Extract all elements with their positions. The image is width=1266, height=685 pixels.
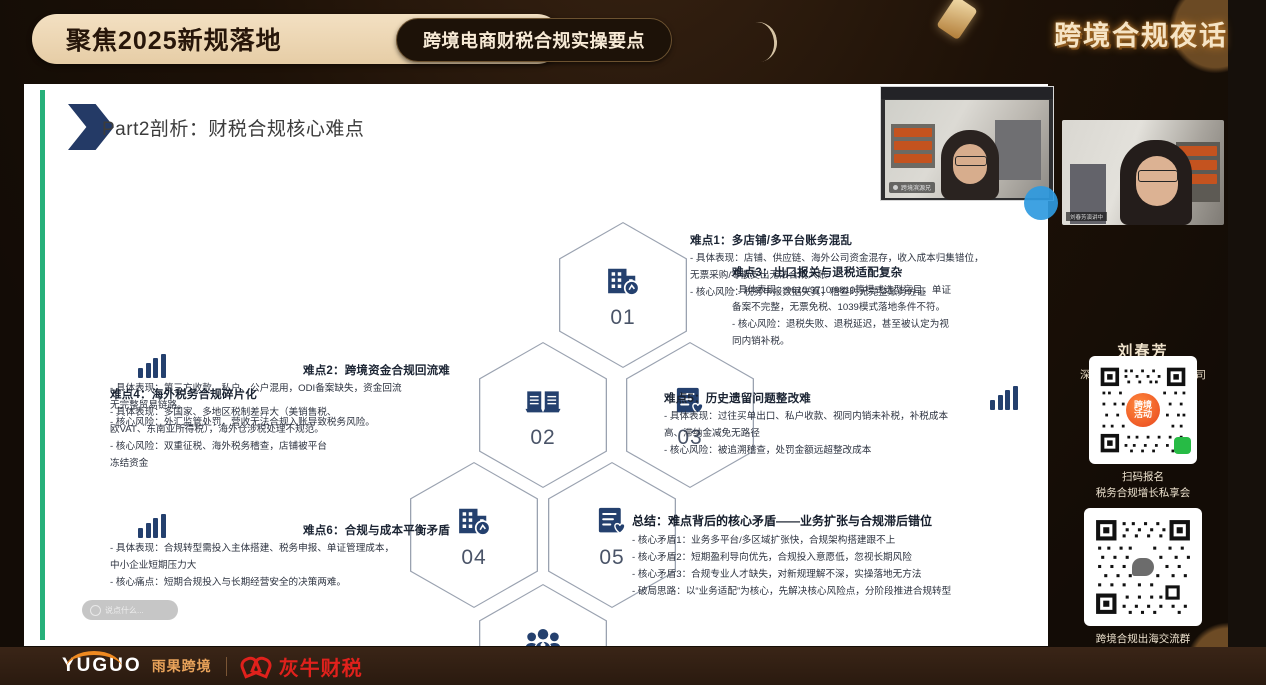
- speaker-video-tile[interactable]: 刘春芳演讲中: [1062, 120, 1224, 225]
- header-sub-title: 跨境电商财税合规实操要点: [423, 27, 645, 53]
- partner-logo-cn: 灰牛财税: [279, 652, 363, 681]
- comment-placeholder: 说点什么...: [105, 605, 144, 616]
- point-line: - 核心风险：被追溯稽查，处罚金额远超整改成本: [664, 444, 1022, 459]
- document-heart-icon: [591, 500, 633, 542]
- program-header: 聚焦2025新规落地 跨境电商财税合规实操要点 跨境合规夜话: [0, 0, 1266, 78]
- summary-line: - 破局思路：以“业务适配”为核心，先解决核心风险点，分阶段推进合规转型: [632, 585, 1032, 599]
- difficulty-point-5: 难点5：历史遗留问题整改难 - 具体表现：过往买单出口、私户收款、视同内销未补税…: [664, 390, 1022, 461]
- point-line: - 具体表现：9610/9710/9810等模式选型盲目，单证: [732, 284, 1032, 299]
- bull-head-icon: [241, 657, 271, 675]
- header-sub-title-pill: 跨境电商财税合规实操要点: [396, 18, 672, 62]
- yuguo-logo-cn: 雨果跨境: [152, 656, 212, 676]
- point-line: 欧VAT、东南亚所得税），海外仓涉税处理不规范。: [110, 423, 430, 438]
- qr-center-chat-icon: [1132, 558, 1154, 576]
- summary-line: - 核心矛盾1：业务多平台/多区域扩张快，合规架构搭建跟不上: [632, 534, 1032, 548]
- doorway-prop: [995, 120, 1041, 180]
- summary-heading: 总结：难点背后的核心矛盾——业务扩张与合规滞后错位: [632, 512, 1032, 529]
- qr-caption-line-1: 扫码报名: [1058, 470, 1228, 486]
- qr-code-signup[interactable]: 跨境 活动: [1089, 356, 1197, 464]
- point-line: - 核心风险：退税失败、退税延迟，甚至被认定为视: [732, 318, 1032, 333]
- pip-video-name-chip: 跨境滨源兄: [889, 182, 935, 193]
- glasses-icon: [1138, 170, 1178, 182]
- summary-block: 总结：难点背后的核心矛盾——业务扩张与合规滞后错位 - 核心矛盾1：业务多平台/…: [632, 512, 1032, 602]
- speaker-video-frame: [1062, 120, 1224, 225]
- hexagon-number: 05: [599, 546, 624, 570]
- right-sidebar: 刘春芳演讲中 刘春芳 深圳灰牛财税咨询有限公司 联合创始人: [1058, 84, 1228, 646]
- difficulty-point-4: 难点4：海外税务合规碎片化 - 具体表现：多国家、多地区税制差异大（美销售税、 …: [110, 386, 430, 473]
- point-heading: 难点2：跨境资金合规回流难: [110, 362, 450, 378]
- right-edge-strip: [1228, 0, 1266, 685]
- building-tax-icon: [453, 500, 495, 542]
- qr-group-caption: 跨境合规出海交流群: [1058, 632, 1228, 648]
- point-heading: 难点6：合规与成本平衡矛盾: [110, 522, 450, 538]
- point-heading: 难点4：海外税务合规碎片化: [110, 386, 430, 402]
- hexagon-06: 06: [479, 584, 607, 646]
- building-tax-icon: [602, 260, 644, 302]
- point-line: 冻结资金: [110, 457, 430, 472]
- point-line: - 具体表现：过往买单出口、私户收款、视同内销未补税，补税成本: [664, 410, 1022, 425]
- speaker-video-name: 刘春芳演讲中: [1070, 213, 1103, 221]
- point-line: - 核心痛点：短期合规投入与长期经营安全的决策两难。: [110, 576, 450, 591]
- swoosh-decoration-icon: [737, 20, 779, 65]
- point-heading: 难点3：出口报关与退税适配复杂: [732, 264, 1032, 280]
- floating-action-button[interactable]: [1024, 186, 1058, 220]
- point-heading: 难点5：历史遗留问题整改难: [664, 390, 1022, 406]
- mic-icon: [893, 185, 898, 190]
- point-line: - 核心风险：双重征税、海外税务稽查，店铺被平台: [110, 440, 430, 455]
- glasses-icon: [955, 156, 987, 166]
- point-line: 高、滞纳金减免无路径: [664, 427, 1022, 442]
- qr-caption-line-2: 税务合规增长私享会: [1058, 486, 1228, 502]
- qr-center-line-2: 活动: [1134, 410, 1152, 419]
- footer-divider: [226, 657, 227, 676]
- pip-video-topbar: [881, 87, 1053, 99]
- pip-video-tile[interactable]: 跨境滨源兄: [880, 86, 1054, 201]
- qr-center-logo: 跨境 活动: [1126, 393, 1160, 427]
- difficulty-point-3: 难点3：出口报关与退税适配复杂 - 具体表现：9610/9710/9810等模式…: [732, 264, 1032, 351]
- pip-video-name: 跨境滨源兄: [901, 183, 931, 192]
- yuguo-arc-icon: [66, 651, 122, 668]
- qr-caption-text: 跨境合规出海交流群: [1058, 632, 1228, 648]
- summary-line: - 核心矛盾2：短期盈利导向优先，合规投入意愿低，忽视长期风险: [632, 551, 1032, 565]
- point-line: 中小企业短期压力大: [110, 559, 450, 574]
- header-main-title: 聚焦2025新规落地: [66, 21, 282, 57]
- comment-icon: [90, 605, 101, 616]
- point-heading: 难点1：多店铺/多平台账务混乱: [690, 232, 1030, 248]
- qr-code-group[interactable]: [1084, 508, 1202, 626]
- point-line: - 具体表现：多国家、多地区税制差异大（美销售税、: [110, 406, 430, 421]
- point-line: 备案不完整，无票免税、1039模式落地条件不符。: [732, 301, 1032, 316]
- difficulty-point-6: 难点6：合规与成本平衡矛盾 - 具体表现：合规转型需投入主体搭建、税务申报、单证…: [110, 522, 450, 593]
- qr-signup-caption: 扫码报名 税务合规增长私享会: [1058, 470, 1228, 502]
- summary-line: - 核心矛盾3：合规专业人才缺失，对新规理解不深，实操落地无方法: [632, 568, 1032, 582]
- point-line: 同内销补税。: [732, 335, 1032, 350]
- open-book-icon: [522, 380, 564, 422]
- gold-streak-decoration-icon: [936, 0, 978, 40]
- pip-speaker-figure: [941, 130, 999, 200]
- program-brand-title: 跨境合规夜话: [1054, 14, 1228, 53]
- broadcast-stage: 聚焦2025新规落地 跨境电商财税合规实操要点 跨境合规夜话 Part2剖析：财…: [0, 0, 1266, 685]
- hexagon-number: 02: [530, 426, 555, 450]
- speaker-video-name-chip: 刘春芳演讲中: [1066, 212, 1107, 221]
- hexagon-number: 01: [610, 306, 635, 330]
- speaker-figure: [1120, 140, 1192, 225]
- team-people-icon: [522, 622, 564, 646]
- bookshelf-prop: [891, 124, 935, 168]
- footer-branding-bar: YUGUO 雨果跨境 灰牛财税: [0, 647, 1266, 685]
- hexagon-number: 04: [461, 546, 486, 570]
- point-line: - 具体表现：合规转型需投入主体搭建、税务申报、单证管理成本，: [110, 542, 450, 557]
- comment-input[interactable]: 说点什么...: [82, 600, 178, 620]
- wechat-badge-icon: [1174, 437, 1191, 454]
